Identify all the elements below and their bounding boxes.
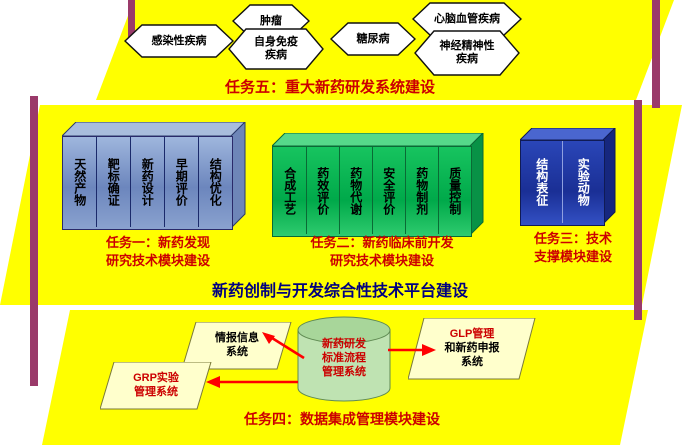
post-right-upper	[652, 0, 660, 108]
arrow-center-to-info	[262, 330, 308, 364]
shape-central-database: 新药研发 标准流程 管理系统	[296, 316, 392, 402]
post-right-lower	[634, 100, 642, 320]
info-system-line2: 系统	[226, 346, 248, 358]
module-box-discovery-front: 天然产物 靶标确证 新药设计 早期评价 结构优化	[62, 136, 233, 230]
cell-structure-optimization: 结构优化	[198, 137, 232, 227]
hex-diabetes-label: 糖尿病	[330, 22, 416, 56]
hex-neuro-text: 神经精神性 疾病	[440, 40, 495, 65]
glp-line3: 系统	[461, 356, 483, 368]
caption-task1-line2: 研究技术模块建设	[58, 252, 258, 270]
info-system-line1: 情报信息	[215, 332, 259, 344]
caption-task5: 任务五：重大新药研发系统建设	[160, 78, 500, 98]
cell-natural-product: 天然产物	[63, 137, 97, 227]
cell-efficacy-evaluation-label: 药效评价	[316, 167, 329, 215]
shape-grp-system-label: GRP实验 管理系统	[100, 362, 212, 410]
caption-task4-text: 任务四：数据集成管理模块建设	[244, 411, 440, 427]
module-box-support: 结构表征 实验动物	[520, 128, 616, 226]
cell-safety-evaluation-label: 安全评价	[382, 167, 395, 215]
shape-grp-system: GRP实验 管理系统	[100, 362, 212, 410]
hex-autoimmune-label: 自身免疫 疾病	[228, 28, 324, 70]
cell-drug-metabolism-label: 药物代谢	[349, 167, 362, 215]
cell-safety-evaluation: 安全评价	[372, 147, 406, 234]
cell-structure-characterization: 结构表征	[521, 141, 563, 223]
shape-central-database-label: 新药研发 标准流程 管理系统	[296, 316, 392, 402]
hex-neuro-label: 神经精神性 疾病	[414, 30, 520, 76]
caption-task2: 任务二：新药临床前开发 研究技术模块建设	[268, 234, 496, 269]
cell-drug-design: 新药设计	[130, 137, 165, 227]
cell-structure-characterization-label: 结构表征	[535, 158, 548, 206]
caption-task1: 任务一：新药发现 研究技术模块建设	[58, 234, 258, 269]
module-box-support-front: 结构表征 实验动物	[520, 140, 605, 226]
caption-task3-line1: 任务三：技术	[512, 230, 634, 248]
glp-line1: GLP管理	[450, 328, 495, 340]
cell-formulation-label: 药物制剂	[415, 167, 428, 215]
hex-autoimmune: 自身免疫 疾病	[228, 28, 324, 70]
hex-infectious: 感染性疾病	[124, 24, 234, 58]
cell-drug-design-label: 新药设计	[141, 158, 154, 206]
diagram-canvas: 肿瘤 心脑血管疾病 感染性疾病 自身免疫 疾病 糖尿病 神经精神性 疾病 任务五…	[0, 0, 682, 445]
arrow-center-to-glp	[386, 340, 438, 360]
arrow-center-to-grp	[204, 372, 300, 392]
cell-laboratory-animal: 实验动物	[562, 141, 604, 223]
hex-autoimmune-text: 自身免疫 疾病	[254, 36, 298, 61]
cell-target-validation-label: 靶标确证	[107, 158, 120, 206]
caption-task2-line2: 研究技术模块建设	[268, 252, 496, 270]
module-box-preclinical: 合成工艺 药效评价 药物代谢 安全评价 药物制剂 质量控制	[272, 133, 484, 237]
cell-synthesis-process: 合成工艺	[273, 147, 307, 234]
module-box-preclinical-front: 合成工艺 药效评价 药物代谢 安全评价 药物制剂 质量控制	[272, 146, 472, 237]
center-line3: 管理系统	[322, 366, 366, 378]
cell-drug-metabolism: 药物代谢	[339, 147, 373, 234]
grp-line1: GRP实验	[133, 372, 179, 384]
center-line2: 标准流程	[322, 352, 366, 364]
cell-natural-product-label: 天然产物	[73, 158, 86, 206]
post-left	[30, 96, 38, 386]
cell-early-evaluation-label: 早期评价	[175, 158, 188, 206]
hex-diabetes: 糖尿病	[330, 22, 416, 56]
hex-infectious-label: 感染性疾病	[124, 24, 234, 58]
center-line1: 新药研发	[322, 338, 366, 350]
caption-task4: 任务四：数据集成管理模块建设	[152, 410, 532, 429]
glp-line2: 和新药申报	[445, 342, 500, 354]
cell-quality-control: 质量控制	[438, 147, 471, 234]
caption-task3-line2: 支撑模块建设	[512, 248, 634, 266]
grp-line2: 管理系统	[134, 386, 178, 398]
caption-task3: 任务三：技术 支撑模块建设	[512, 230, 634, 265]
module-box-discovery: 天然产物 靶标确证 新药设计 早期评价 结构优化	[62, 122, 246, 230]
cell-early-evaluation: 早期评价	[164, 137, 199, 227]
caption-task1-line1: 任务一：新药发现	[58, 234, 258, 252]
cell-formulation: 药物制剂	[405, 147, 439, 234]
cell-efficacy-evaluation: 药效评价	[306, 147, 340, 234]
caption-task5-text: 任务五：重大新药研发系统建设	[225, 79, 435, 96]
platform-title: 新药创制与开发综合性技术平台建设	[130, 281, 550, 303]
caption-task2-line1: 任务二：新药临床前开发	[268, 234, 496, 252]
cell-laboratory-animal-label: 实验动物	[577, 158, 590, 206]
platform-title-text: 新药创制与开发综合性技术平台建设	[212, 283, 468, 300]
cell-synthesis-process-label: 合成工艺	[283, 167, 296, 215]
hex-neuro: 神经精神性 疾病	[414, 30, 520, 76]
cell-structure-optimization-label: 结构优化	[209, 158, 222, 206]
cell-quality-control-label: 质量控制	[448, 167, 461, 215]
cell-target-validation: 靶标确证	[96, 137, 131, 227]
